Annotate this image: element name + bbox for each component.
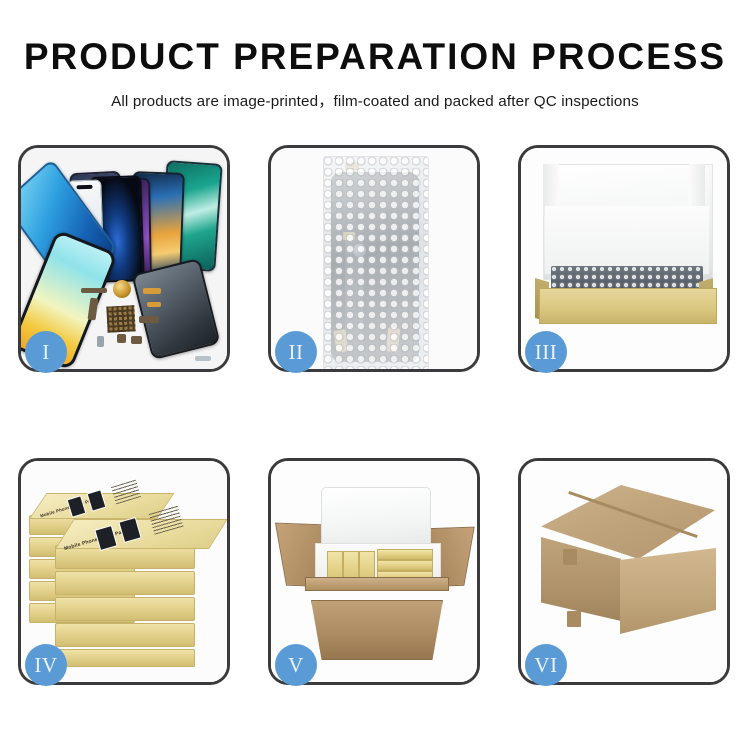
process-steps-grid: I II: [18, 145, 732, 685]
page-title: PRODUCT PREPARATION PROCESS: [0, 38, 750, 77]
box-front-panel-icon: [539, 288, 717, 324]
speaker-module-icon: [113, 280, 131, 298]
carton-rim-icon: [305, 577, 449, 591]
part-flex-b-icon: [139, 316, 159, 323]
stack-box-fr-3: [55, 597, 195, 621]
screwdriver-icon: [195, 356, 211, 361]
part-flex-a-icon: [88, 298, 99, 321]
packed-box-5: [377, 560, 433, 571]
stack-box-fr-5: [55, 649, 195, 667]
connector-b-icon: [147, 302, 161, 307]
step-badge-4: IV: [25, 644, 67, 686]
carton-left-face-icon: [541, 537, 621, 621]
part-camera-icon: [97, 336, 104, 347]
part-chip-b-icon: [131, 336, 142, 344]
process-step-card-6[interactable]: VI: [518, 458, 730, 685]
logic-board-icon: [106, 305, 135, 332]
bubble-wrap-icon: [323, 156, 429, 369]
box-foam-icon: [545, 206, 709, 274]
stack-box-fr-4: [55, 623, 195, 647]
part-chip-a-icon: [117, 334, 126, 343]
foam-lid-icon: [321, 487, 431, 551]
carton-tape-top-icon: [563, 549, 577, 565]
process-step-card-2[interactable]: II: [268, 145, 480, 372]
carton-front-icon: [311, 600, 443, 660]
process-step-card-3[interactable]: III: [518, 145, 730, 372]
page-subtitle: All products are image-printed，film-coat…: [0, 89, 750, 111]
process-step-card-5[interactable]: V: [268, 458, 480, 685]
phone-back-housing-icon: [131, 258, 220, 360]
step-badge-1: I: [25, 331, 67, 373]
part-strip-icon: [81, 288, 107, 293]
step-badge-3: III: [525, 331, 567, 373]
carton-right-face-icon: [620, 548, 716, 634]
step-badge-6: VI: [525, 644, 567, 686]
step-badge-5: V: [275, 644, 317, 686]
notch-icon: [76, 185, 92, 190]
process-step-card-4[interactable]: Mobile Phone Spare Parts Mobile Phone Sp…: [18, 458, 230, 685]
stack-box-fr-2: [55, 571, 195, 595]
packed-box-4: [377, 549, 433, 560]
step-badge-2: II: [275, 331, 317, 373]
carton-tape-bottom-icon: [567, 611, 581, 627]
process-step-card-1[interactable]: I: [18, 145, 230, 372]
connector-a-icon: [143, 288, 161, 294]
page-header: PRODUCT PREPARATION PROCESS All products…: [0, 0, 750, 111]
